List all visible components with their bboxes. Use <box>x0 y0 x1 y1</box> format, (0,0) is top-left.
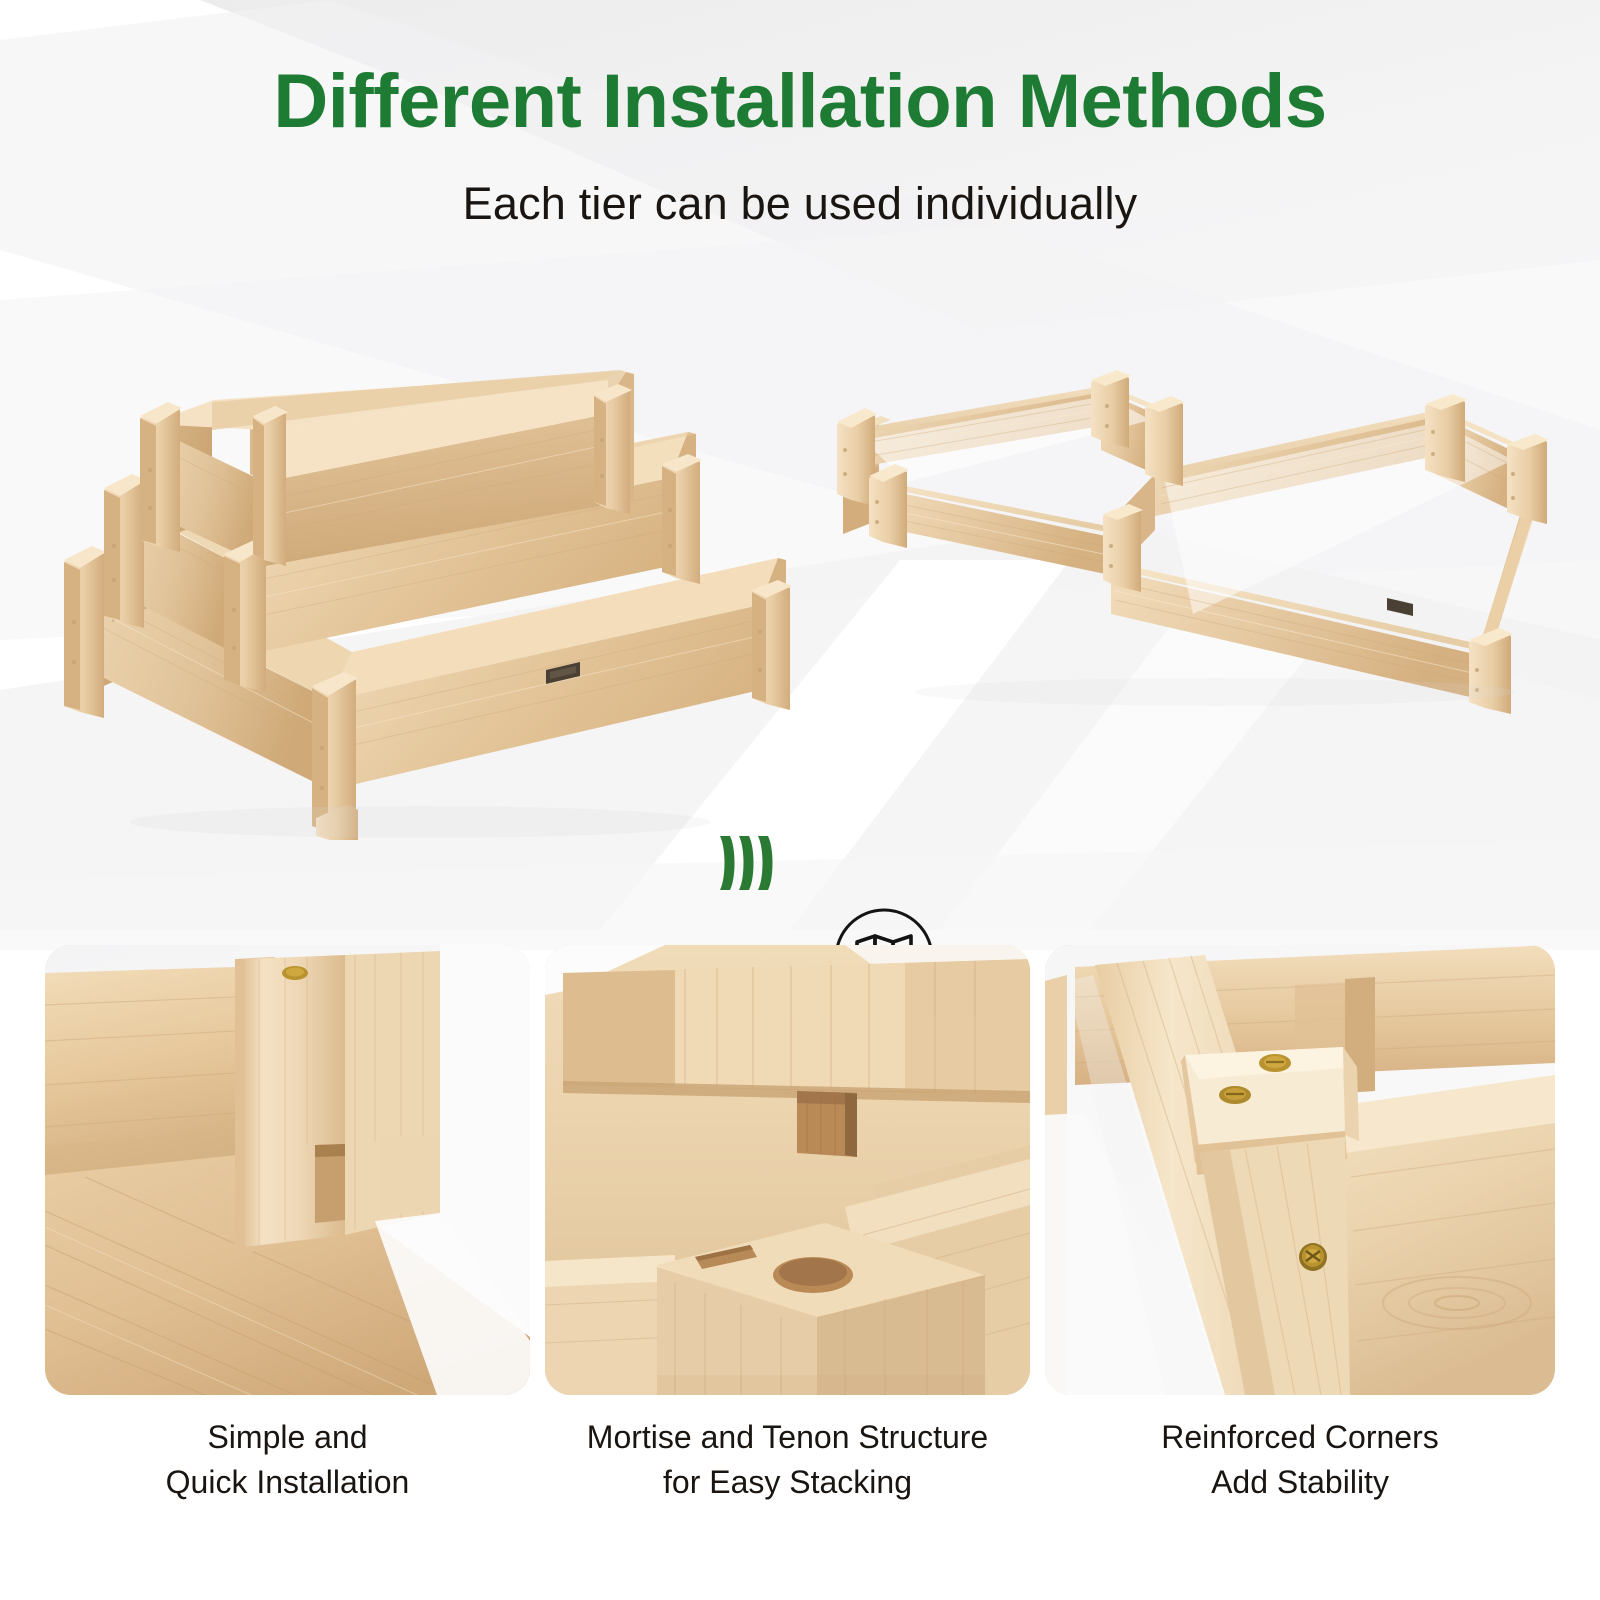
header: Different Installation Methods Each tier… <box>0 0 1600 230</box>
corner-post <box>662 454 702 584</box>
brass-screw-icon <box>1299 1243 1327 1271</box>
page-title: Different Installation Methods <box>0 62 1600 142</box>
card-reinforced-corner-photo <box>1045 945 1555 1395</box>
corner-post <box>1145 396 1185 486</box>
caption-reinforced-corners: Reinforced Corners Add Stability <box>1045 1415 1555 1506</box>
caption-line-2: Quick Installation <box>45 1460 530 1505</box>
corner-post <box>1507 434 1549 524</box>
corner-post <box>224 540 268 692</box>
caption-line-1: Reinforced Corners <box>1161 1419 1438 1455</box>
photo-reinforced-corner <box>1045 945 1555 1395</box>
caption-line-2: for Easy Stacking <box>545 1460 1030 1505</box>
caption-line-2: Add Stability <box>1045 1460 1555 1505</box>
photo-mortise-tenon <box>545 945 1030 1395</box>
flat-planter-svg <box>815 370 1575 720</box>
corner-post <box>253 406 288 566</box>
hero-section <box>0 360 1600 880</box>
page-subtitle: Each tier can be used individually <box>0 178 1600 230</box>
corner-post <box>104 474 146 628</box>
corner-post <box>752 580 792 710</box>
chevron-svg <box>718 832 778 894</box>
detail-photo-row <box>0 945 1600 1400</box>
corner-post <box>869 464 909 548</box>
corner-post <box>594 384 632 514</box>
product-image-three-tier-stacked <box>60 370 800 840</box>
caption-line-1: Simple and <box>207 1419 367 1455</box>
three-tier-planter-svg <box>60 370 800 840</box>
caption-mortise-tenon: Mortise and Tenon Structure for Easy Sta… <box>545 1415 1030 1506</box>
card-mortise-tenon-photo <box>545 945 1030 1395</box>
corner-post <box>64 546 106 718</box>
corner-post <box>1091 370 1131 448</box>
caption-line-1: Mortise and Tenon Structure <box>587 1419 988 1455</box>
brand-plate <box>1387 598 1413 616</box>
corner-post <box>140 402 182 552</box>
corner-post <box>1425 394 1467 482</box>
triple-chevron-right-icon <box>718 832 778 894</box>
corner-post <box>1103 504 1143 592</box>
product-image-flat-layout <box>815 370 1575 720</box>
brass-screw-icon <box>1219 1086 1251 1104</box>
caption-simple-install: Simple and Quick Installation <box>45 1415 530 1506</box>
brass-screw-icon <box>1259 1054 1291 1072</box>
card-simple-install-photo <box>45 945 530 1395</box>
photo-slotted-post <box>45 945 530 1395</box>
